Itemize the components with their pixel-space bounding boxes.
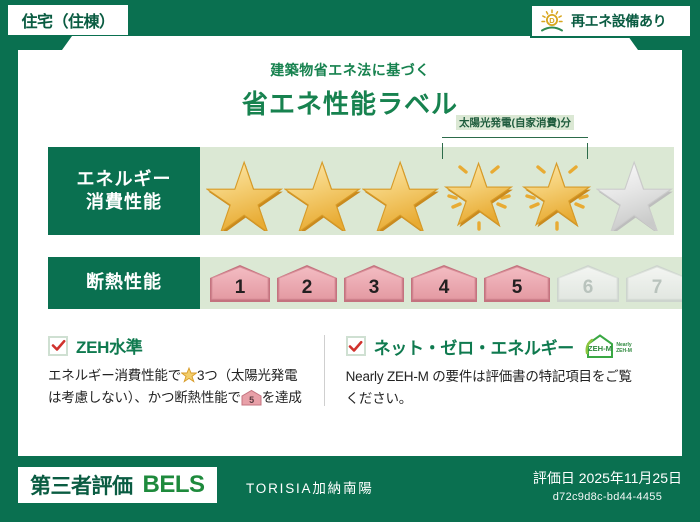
renewable-energy-badge: D 再エネ設備あり: [530, 4, 692, 38]
insulation-levels-area: 1 2: [200, 257, 690, 309]
star-5-solar: [518, 151, 596, 231]
insulation-level-1-value: 1: [235, 278, 246, 304]
solar-sun-icon: D: [539, 9, 565, 33]
renewable-energy-badge-label: 再エネ設備あり: [571, 11, 666, 31]
star-4-solar: [440, 151, 518, 231]
net-zero-energy-body: Nearly ZEH-M の要件は評価書の特記項目をご覧ください。: [346, 366, 638, 410]
bels-certification-box: 第三者評価 BELS: [18, 467, 217, 503]
zeh-standard-section: ZEH水準 エネルギー消費性能で3つ（太陽光発電は考慮しない）、かつ断熱性能で5…: [48, 333, 324, 410]
insulation-level-7-value: 7: [652, 278, 663, 304]
star-icon: [181, 367, 197, 383]
svg-text:ZEH-M: ZEH-M: [588, 344, 612, 353]
insulation-level-5-value: 5: [512, 278, 523, 304]
insulation-performance-label: 断熱性能: [48, 257, 200, 309]
star-rating: [200, 147, 674, 235]
energy-performance-label: エネルギー 消費性能: [48, 147, 200, 235]
insulation-performance-row: 断熱性能 1: [48, 257, 652, 309]
red-check-icon: [346, 336, 366, 356]
net-zero-energy-title: ネット・ゼロ・エネルギー: [374, 334, 574, 359]
insulation-level-3-value: 3: [369, 278, 380, 304]
bels-logo-text: BELS: [143, 471, 205, 499]
building-type-tag: 住宅（住棟）: [8, 5, 128, 35]
energy-label-root: 住宅（住棟） D 再エネ設備あり 建築: [0, 0, 700, 522]
star-2: [284, 151, 362, 231]
insulation-level-6: 6: [555, 262, 621, 304]
net-zero-energy-header: ネット・ゼロ・エネルギー ZEH-M Nearly ZEH-M: [346, 333, 638, 359]
insulation-level-6-value: 6: [583, 278, 594, 304]
insulation-level-1: 1: [208, 262, 272, 304]
document-id: d72c9d8c-bd44-4455: [533, 491, 682, 503]
builder-name: TORISIA加納南陽: [246, 477, 374, 497]
label-subtitle: 建築物省エネ法に基づく: [40, 60, 660, 80]
insulation-level-7: 7: [624, 262, 690, 304]
section-divider: [324, 335, 325, 406]
insulation-level-2-value: 2: [302, 278, 313, 304]
svg-text:D: D: [549, 16, 555, 25]
zeh-standard-body-part1: エネルギー消費性能で: [48, 368, 181, 383]
star-6-empty: [596, 151, 674, 231]
label-title: 省エネ性能ラベル: [40, 84, 660, 121]
star-1: [206, 151, 284, 231]
insulation-level-scale: 1 2: [200, 257, 690, 309]
evaluation-date: 評価日 2025年11月25日: [533, 468, 682, 488]
insulation-level-4: 4: [409, 262, 479, 304]
zeh-standard-body: エネルギー消費性能で3つ（太陽光発電は考慮しない）、かつ断熱性能で5を達成: [48, 365, 310, 409]
star-3: [362, 151, 440, 231]
svg-text:ZEH-M: ZEH-M: [616, 348, 632, 354]
insulation-level-2: 2: [275, 262, 339, 304]
insulation-level-5: 5: [482, 262, 552, 304]
house-badge-5-icon: 5: [241, 389, 262, 406]
label-panel: 建築物省エネ法に基づく 省エネ性能ラベル エネルギー 消費性能 太陽光発電(自家…: [18, 36, 682, 456]
zeh-m-logo: ZEH-M Nearly ZEH-M: [584, 333, 638, 359]
criteria-sections: ZEH水準 エネルギー消費性能で3つ（太陽光発電は考慮しない）、かつ断熱性能で5…: [48, 333, 652, 410]
energy-performance-stars-area: 太陽光発電(自家消費)分: [200, 147, 674, 235]
energy-performance-row: エネルギー 消費性能 太陽光発電(自家消費)分: [48, 147, 652, 235]
red-check-icon: [48, 336, 68, 356]
insulation-level-3: 3: [342, 262, 406, 304]
net-zero-energy-section: ネット・ゼロ・エネルギー ZEH-M Nearly ZEH-M Nearly Z…: [324, 333, 652, 410]
building-type-tag-label: 住宅（住棟）: [21, 8, 114, 32]
zeh-standard-title: ZEH水準: [76, 333, 143, 358]
insulation-performance-label-text: 断熱性能: [86, 271, 162, 294]
energy-performance-label-line2: 消費性能: [86, 191, 162, 214]
svg-text:5: 5: [249, 395, 254, 405]
insulation-level-4-value: 4: [439, 278, 450, 304]
energy-performance-label-line1: エネルギー: [77, 168, 172, 191]
label-footer: 第三者評価 BELS TORISIA加納南陽 評価日 2025年11月25日 d…: [0, 456, 700, 522]
third-party-evaluation-label: 第三者評価: [30, 470, 133, 500]
zeh-standard-header: ZEH水準: [48, 333, 310, 358]
evaluation-meta: 評価日 2025年11月25日 d72c9d8c-bd44-4455: [533, 468, 682, 503]
zeh-standard-body-part3: を達成: [262, 390, 302, 405]
